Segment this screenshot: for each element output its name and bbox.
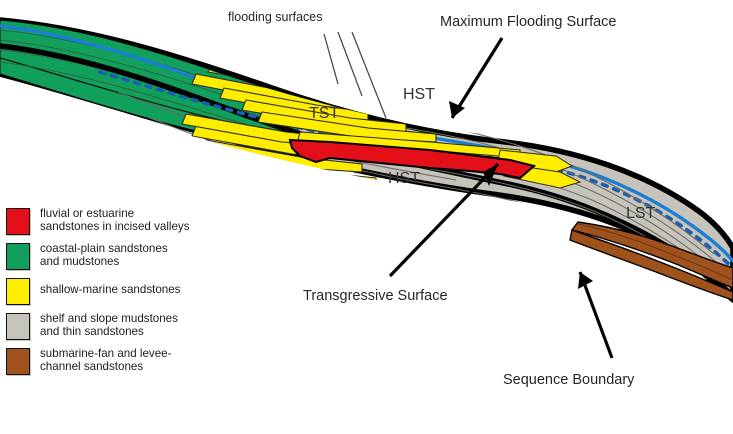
legend-swatch-submarine-fan: [6, 348, 30, 375]
legend: fluvial or estuarine sandstones in incis…: [6, 207, 221, 382]
label-flooding-surfaces: flooding surfaces: [228, 10, 323, 24]
label-transgressive-surface: Transgressive Surface: [303, 288, 448, 304]
legend-line: and thin sandstones: [40, 326, 178, 339]
legend-label-shallow-marine: shallow-marine sandstones: [40, 277, 180, 297]
label-maximum-flooding-surface: Maximum Flooding Surface: [440, 14, 617, 30]
label-lst: LST: [626, 205, 655, 223]
legend-swatch-shallow-marine: [6, 278, 30, 305]
legend-line: sandstones in incised valleys: [40, 221, 190, 234]
maximum-flooding-surface-arrow: [449, 38, 502, 118]
label-tst: TST: [309, 105, 339, 123]
legend-line: shallow-marine sandstones: [40, 284, 180, 297]
sequence-boundary-arrow: [578, 272, 612, 358]
legend-line: and mudstones: [40, 256, 168, 269]
legend-item-submarine-fan: submarine-fan and levee- channel sandsto…: [6, 347, 221, 375]
legend-label-submarine-fan: submarine-fan and levee- channel sandsto…: [40, 347, 171, 373]
legend-item-shelf-slope-mudstones: shelf and slope mudstones and thin sands…: [6, 312, 221, 340]
legend-swatch-shelf-slope-mudstones: [6, 313, 30, 340]
legend-item-fluvial-estuarine: fluvial or estuarine sandstones in incis…: [6, 207, 221, 235]
legend-label-shelf-slope-mudstones: shelf and slope mudstones and thin sands…: [40, 312, 178, 338]
legend-swatch-coastal-plain: [6, 243, 30, 270]
legend-label-coastal-plain: coastal-plain sandstones and mudstones: [40, 242, 168, 268]
legend-item-shallow-marine: shallow-marine sandstones: [6, 277, 221, 305]
label-sequence-boundary: Sequence Boundary: [503, 372, 634, 388]
label-hst-upper: HST: [403, 86, 435, 104]
legend-swatch-fluvial-estuarine: [6, 208, 30, 235]
legend-label-fluvial-estuarine: fluvial or estuarine sandstones in incis…: [40, 207, 190, 233]
legend-line: coastal-plain sandstones: [40, 243, 168, 256]
legend-line: channel sandstones: [40, 361, 171, 374]
legend-line: fluvial or estuarine: [40, 208, 190, 221]
label-hst-lower: HST: [388, 170, 420, 188]
legend-item-coastal-plain: coastal-plain sandstones and mudstones: [6, 242, 221, 270]
legend-line: shelf and slope mudstones: [40, 313, 178, 326]
legend-line: submarine-fan and levee-: [40, 348, 171, 361]
